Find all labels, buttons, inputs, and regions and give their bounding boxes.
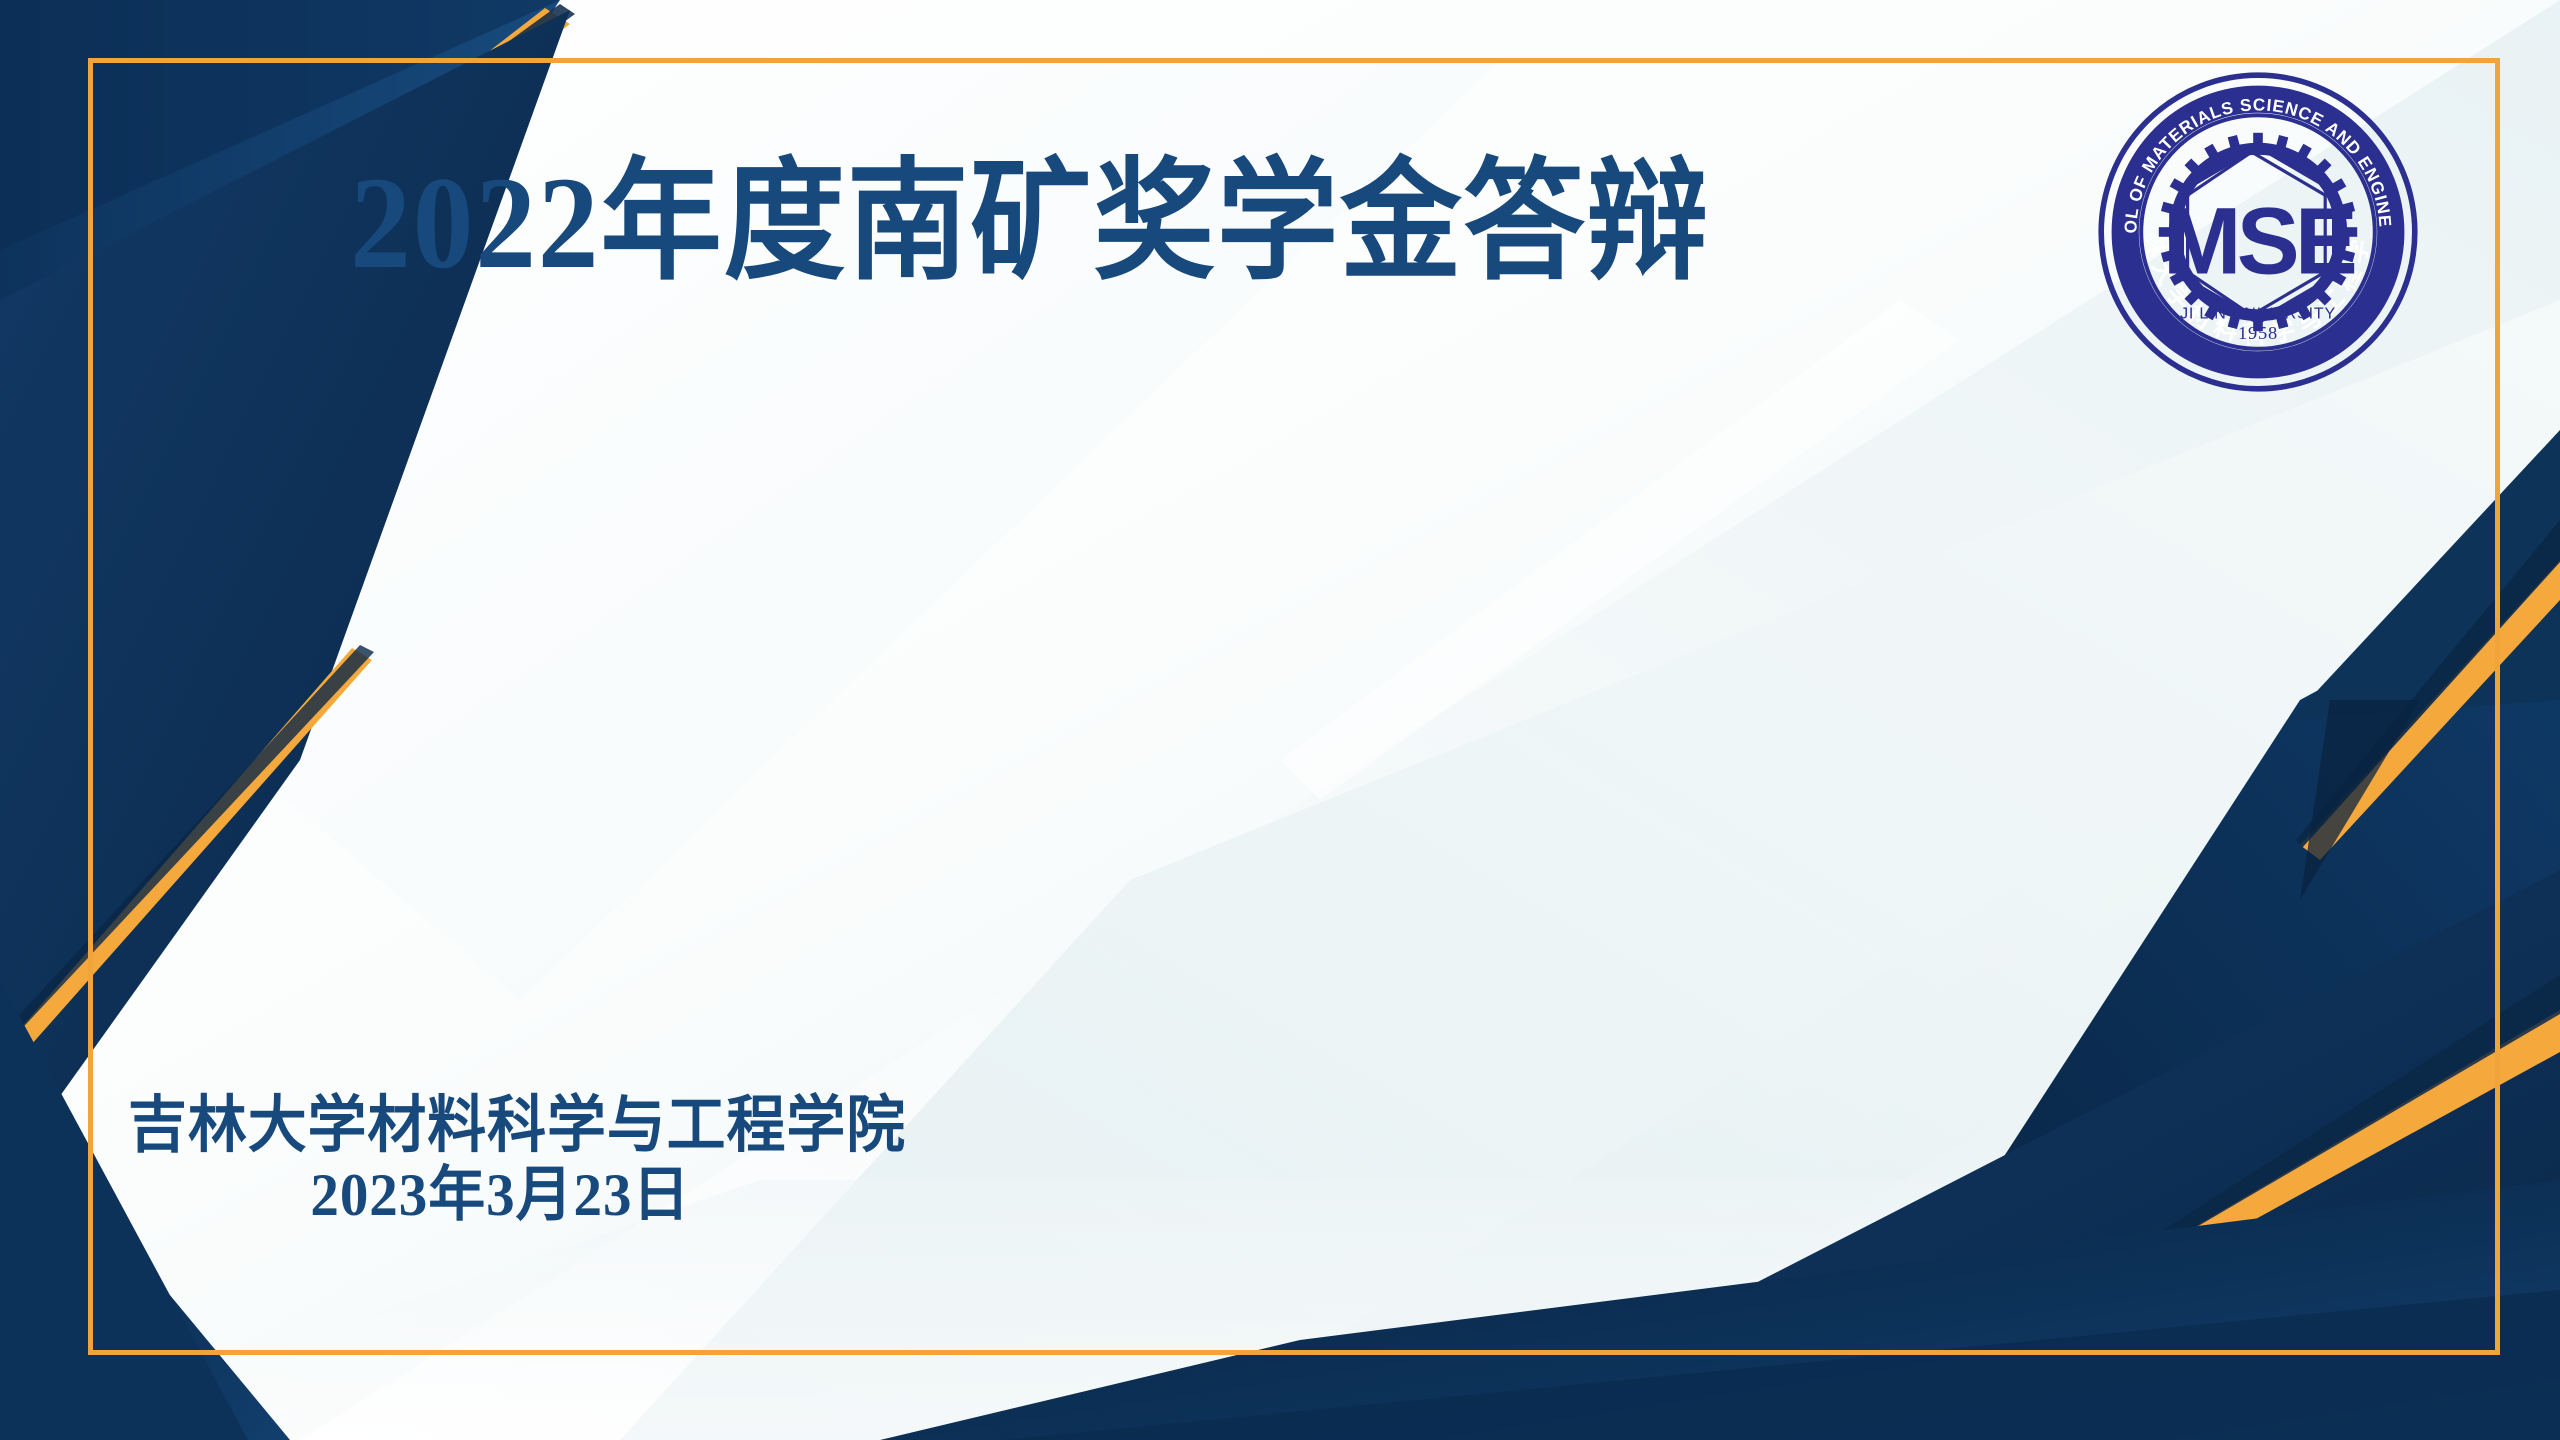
logo-university-name: JI LIN UNIVERSITY — [2180, 305, 2336, 322]
organization-name: 吉林大学材料科学与工程学院 — [128, 1092, 1078, 1161]
footer-block: 吉林大学材料科学与工程学院 2023年3月23日 — [128, 1092, 1128, 1230]
page-title: 2022年度南矿奖学金答辩 — [350, 140, 1710, 305]
presentation-slide: 2022年度南矿奖学金答辩 吉林大学材料科学与工程学院 2023年3月23日 S… — [0, 0, 2560, 1440]
title-block: 2022年度南矿奖学金答辩 — [0, 140, 2060, 305]
mse-jilin-university-logo: SCHOOL OF MATERIALS SCIENCE AND ENGINEER… — [2098, 72, 2418, 392]
logo-monogram: MSE — [2163, 190, 2355, 295]
presentation-date: 2023年3月23日 — [128, 1161, 1078, 1230]
logo-founded-year: 1958 — [2238, 323, 2278, 343]
logo-icon: SCHOOL OF MATERIALS SCIENCE AND ENGINEER… — [2098, 72, 2418, 392]
